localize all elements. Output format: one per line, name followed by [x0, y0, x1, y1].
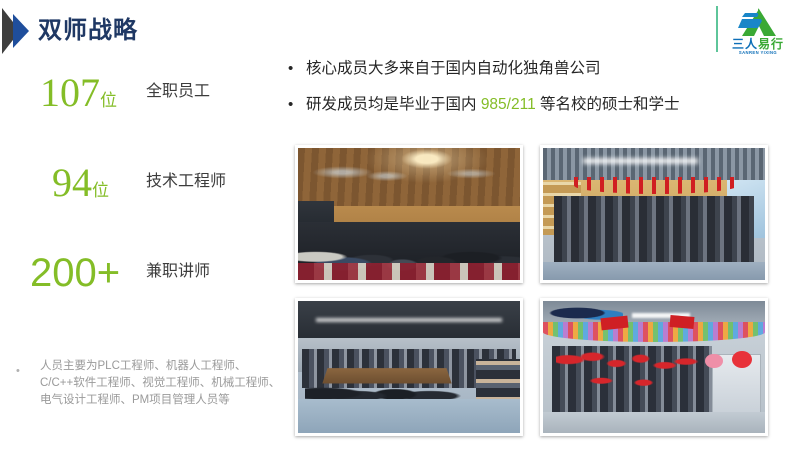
photo-region-group-rows	[554, 196, 754, 265]
footnote-block: • 人员主要为PLC工程师、机器人工程师、C/C++软件工程师、视觉工程师、机械…	[16, 358, 288, 409]
stat-label-full-time: 全职员工	[146, 80, 210, 104]
stat-value: 107	[40, 70, 100, 115]
photo-region-tables	[298, 263, 520, 280]
photo-region-red-envelopes	[556, 351, 707, 399]
stat-row-full-time: 107位 全职员工	[0, 70, 288, 160]
bullet-text-post: 等名校的硕士和学士	[536, 96, 680, 113]
photo-office-group-photo-lanterns	[540, 145, 768, 283]
logo-name-cn-a: 三人	[732, 37, 758, 51]
photo-grid	[295, 145, 790, 443]
logo-name-cn: 三人易行	[724, 37, 792, 51]
bullet-text-highlight: 985/211	[481, 96, 536, 113]
photo-region-floor	[543, 412, 765, 433]
photo-region-red-decor-right	[669, 314, 694, 328]
title-arrow-icon	[2, 8, 38, 54]
arrow-front-icon	[13, 14, 29, 48]
photo-image	[543, 148, 765, 280]
photo-image	[298, 148, 520, 280]
photo-image	[298, 301, 520, 433]
bullet-dot-icon: •	[288, 94, 293, 116]
photo-conference-room-meeting	[295, 298, 523, 436]
page-title: 双师战略	[38, 14, 138, 48]
stat-row-engineers: 94位 技术工程师	[0, 160, 288, 250]
photo-region-balloon-red	[732, 351, 752, 368]
stat-number-engineers: 94位	[52, 160, 109, 214]
photo-region-red-decor-left	[600, 315, 628, 330]
footnote-bullet-icon: •	[16, 364, 28, 378]
stat-number-lecturers: 200+	[30, 250, 120, 304]
stat-label-engineers: 技术工程师	[146, 170, 226, 194]
photo-region-floor	[543, 262, 765, 280]
logo-divider	[716, 6, 718, 52]
slide-root: 双师战略 三人易行 SANREN YIXING 107位 全职员工 94位 技术…	[0, 0, 800, 450]
stat-unit: 位	[100, 91, 117, 110]
stat-value: 94	[52, 160, 92, 205]
photo-region-balloon-pink	[705, 354, 723, 369]
logo-name-en: SANREN YIXING	[724, 50, 792, 56]
stat-label-lecturers: 兼职讲师	[146, 260, 210, 284]
bullet-dot-icon: •	[288, 58, 293, 80]
bullet-list: •核心成员大多来自于国内自动化独角兽公司 •研发成员均是毕业于国内 985/21…	[286, 58, 792, 130]
stats-list: 107位 全职员工 94位 技术工程师 200+ 兼职讲师	[0, 70, 288, 340]
slide-header: 双师战略 三人易行 SANREN YIXING	[0, 0, 800, 62]
photo-red-envelope-celebration	[540, 298, 768, 436]
photo-region-balloon-garland	[543, 322, 765, 342]
logo-name-cn-b: 易行	[758, 37, 784, 51]
bullet-text: 核心成员大多来自于国内自动化独角兽公司	[306, 60, 601, 77]
logo-triangle-mark	[733, 6, 783, 38]
company-logo: 三人易行 SANREN YIXING	[724, 6, 792, 58]
stat-unit: 位	[92, 181, 109, 200]
bullet-item-education: •研发成员均是毕业于国内 985/211 等名校的硕士和学士	[286, 94, 792, 116]
photo-region-floor	[298, 399, 520, 433]
photo-region-ceiling	[298, 301, 520, 341]
bullet-text-pre: 研发成员均是毕业于国内	[306, 96, 481, 113]
photo-image	[543, 301, 765, 433]
stat-value: 200+	[30, 251, 120, 295]
footnote-text: 人员主要为PLC工程师、机器人工程师、C/C++软件工程师、视觉工程师、机械工程…	[40, 358, 288, 409]
photo-banquet-hall-dinner	[295, 145, 523, 283]
stat-number-full-time: 107位	[40, 70, 117, 124]
bullet-item-core-members: •核心成员大多来自于国内自动化独角兽公司	[286, 58, 792, 80]
photo-region-ceiling	[298, 148, 520, 209]
stat-row-lecturers: 200+ 兼职讲师	[0, 250, 288, 340]
